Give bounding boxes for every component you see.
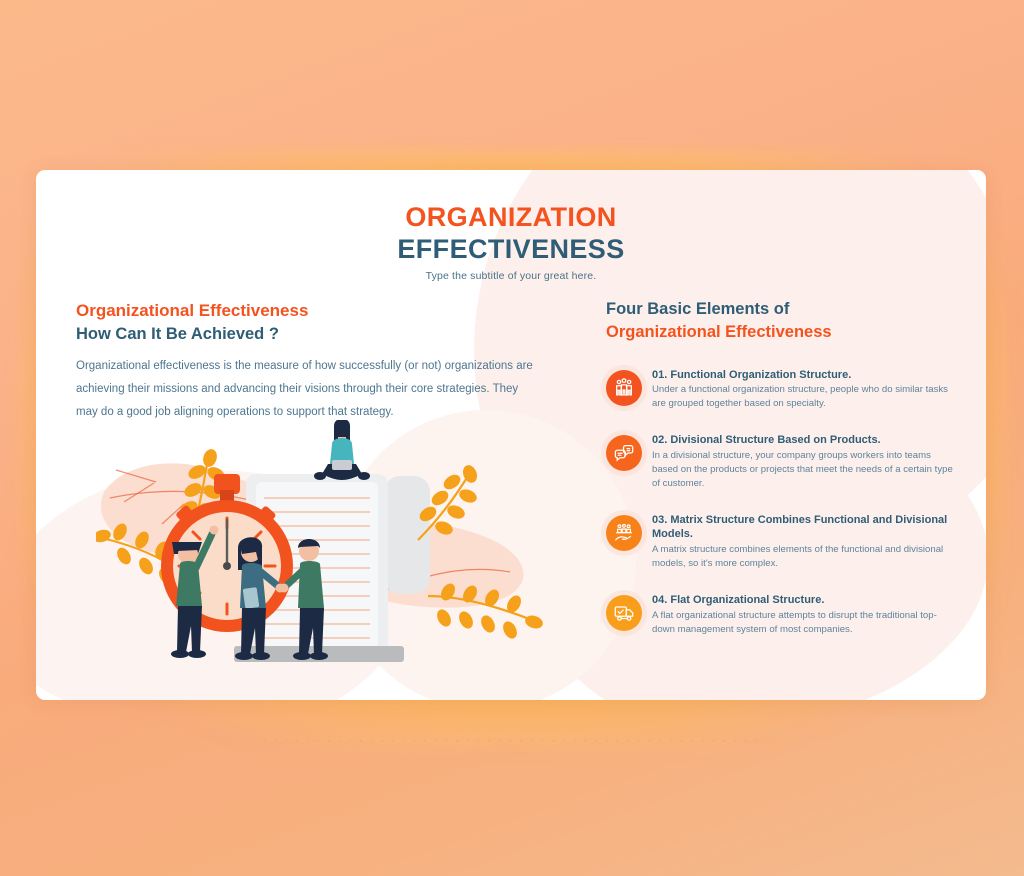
- hand-holding-team-icon: [606, 515, 642, 551]
- teamwork-stopwatch-illustration: [96, 420, 546, 695]
- speech-bubbles-icon: [606, 435, 642, 471]
- page-title-secondary: EFFECTIVENESS: [36, 234, 986, 266]
- list-item-description: Under a functional organization structur…: [652, 383, 956, 411]
- list-item[interactable]: 03. Matrix Structure Combines Functional…: [606, 513, 956, 571]
- list-item-title: 01. Functional Organization Structure.: [652, 368, 956, 382]
- right-heading-navy: Four Basic Elements of: [606, 298, 956, 321]
- page-title-primary: ORGANIZATION: [36, 202, 986, 234]
- list-item-description: A flat organizational structure attempts…: [652, 609, 956, 637]
- page-subtitle: Type the subtitle of your great here.: [36, 270, 986, 282]
- right-heading-orange: Organizational Effectiveness: [606, 321, 956, 344]
- delivery-truck-check-icon: [606, 595, 642, 631]
- list-item-text: 04. Flat Organizational Structure. A fla…: [652, 593, 956, 637]
- right-content-column: Four Basic Elements of Organizational Ef…: [606, 298, 956, 659]
- list-item[interactable]: 04. Flat Organizational Structure. A fla…: [606, 593, 956, 637]
- left-content-column: Organizational Effectiveness How Can It …: [76, 300, 536, 424]
- list-item-text: 02. Divisional Structure Based on Produc…: [652, 433, 956, 491]
- watermark-strip: · · · · · · · · · · · · · · · · · · · · …: [0, 733, 1024, 749]
- list-item-text: 01. Functional Organization Structure. U…: [652, 368, 956, 412]
- list-item[interactable]: 01. Functional Organization Structure. U…: [606, 368, 956, 412]
- list-item-title: 02. Divisional Structure Based on Produc…: [652, 433, 956, 447]
- list-item-description: A matrix structure combines elements of …: [652, 543, 956, 571]
- left-body-paragraph: Organizational effectiveness is the meas…: [76, 355, 536, 424]
- left-heading-orange: Organizational Effectiveness: [76, 300, 536, 322]
- elements-list: 01. Functional Organization Structure. U…: [606, 368, 956, 637]
- people-group-icon: [606, 370, 642, 406]
- list-item-description: In a divisional structure, your company …: [652, 449, 956, 491]
- list-item-title: 04. Flat Organizational Structure.: [652, 593, 956, 607]
- left-heading-navy: How Can It Be Achieved ?: [76, 323, 536, 345]
- slide-header: ORGANIZATION EFFECTIVENESS Type the subt…: [36, 202, 986, 282]
- list-item[interactable]: 02. Divisional Structure Based on Produc…: [606, 433, 956, 491]
- list-item-text: 03. Matrix Structure Combines Functional…: [652, 513, 956, 571]
- slide-card: ORGANIZATION EFFECTIVENESS Type the subt…: [36, 170, 986, 700]
- list-item-title: 03. Matrix Structure Combines Functional…: [652, 513, 956, 542]
